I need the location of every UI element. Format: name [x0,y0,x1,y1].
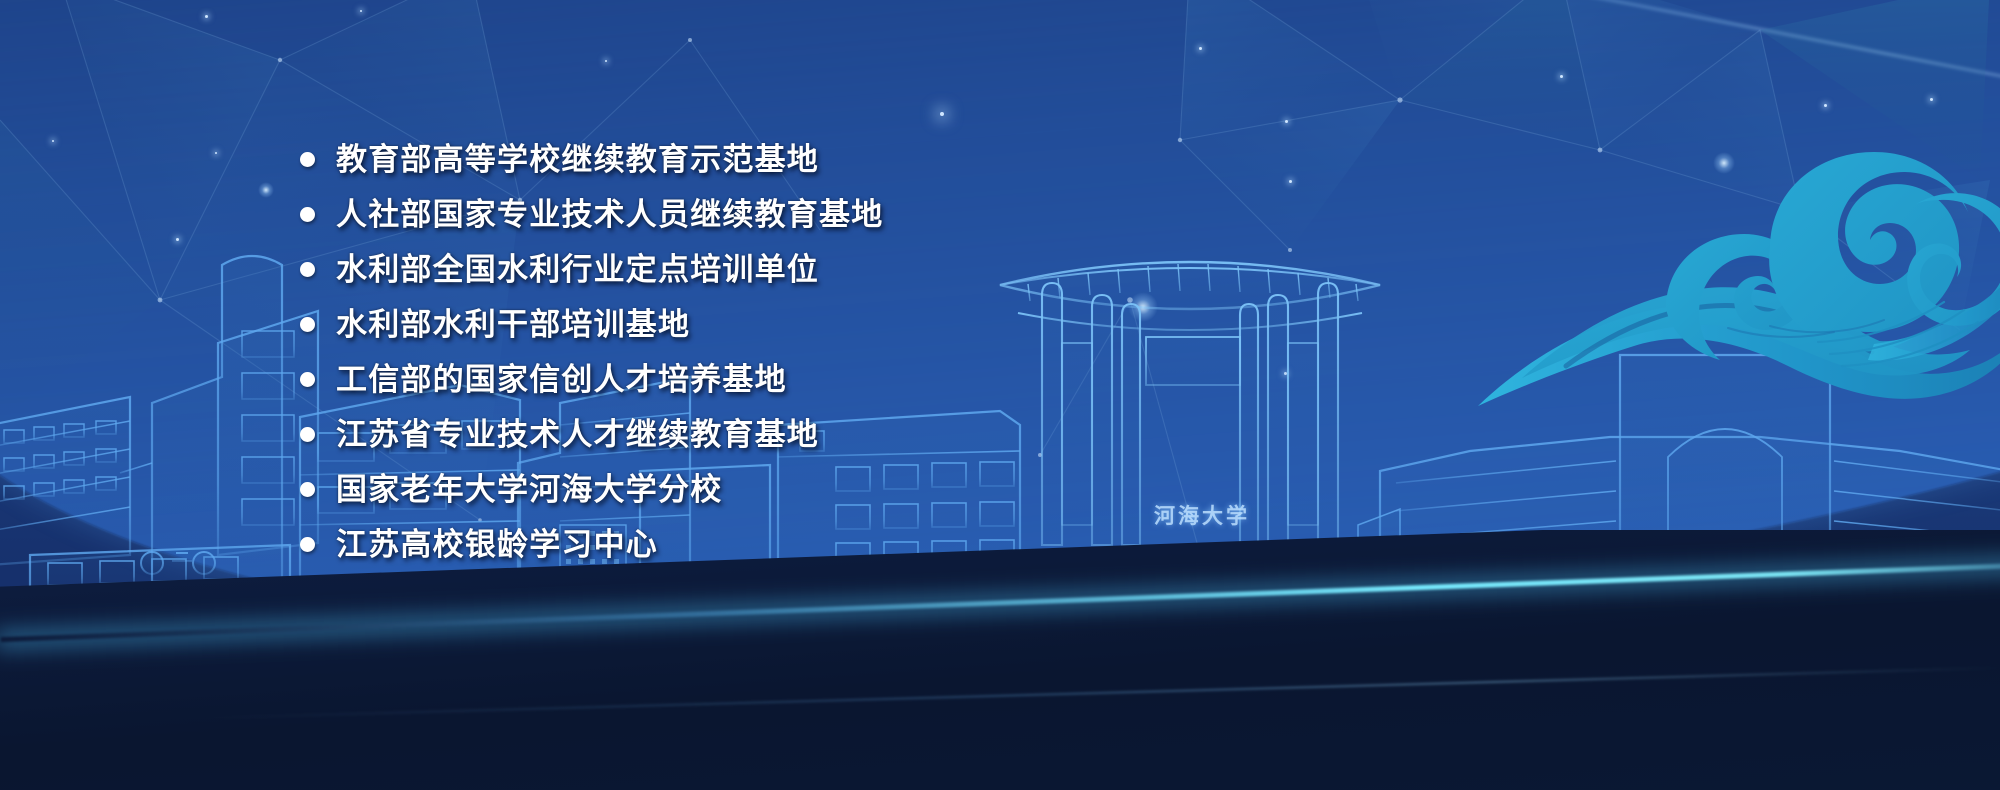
glow-particle [940,112,944,116]
gate-plaque-text: 河海大学 [1147,500,1257,530]
list-item: 教育部高等学校继续教育示范基地 [300,132,883,186]
glow-particle [258,182,274,198]
list-item: 人社部国家专业技术人员继续教育基地 [300,187,883,241]
credentials-list: 教育部高等学校继续教育示范基地 人社部国家专业技术人员继续教育基地 水利部全国水… [300,132,883,572]
glow-particle [1285,120,1288,123]
glow-particle [1930,98,1933,101]
credential-label: 水利部水利干部培训基地 [336,309,690,340]
credential-label: 国家老年大学河海大学分校 [336,474,722,505]
bullet-icon [300,207,315,222]
glow-particle [1560,75,1563,78]
list-item: 工信部的国家信创人才培养基地 [300,352,883,406]
glow-particle [1199,47,1202,50]
bullet-icon [300,482,315,497]
glow-particle [52,140,54,142]
list-item: 江苏高校银龄学习中心 [300,517,883,571]
bullet-icon [300,262,315,277]
list-item: 江苏省专业技术人才继续教育基地 [300,407,883,461]
glow-particle [1289,180,1292,183]
credential-label: 教育部高等学校继续教育示范基地 [336,144,819,175]
glow-particle [1824,104,1827,107]
glow-particle [605,60,607,62]
credential-label: 工信部的国家信创人才培养基地 [336,364,787,395]
credential-label: 江苏高校银龄学习中心 [336,529,658,560]
bullet-icon [300,537,315,552]
hero-banner: 河海大学 [0,0,2000,790]
list-item: 水利部全国水利行业定点培训单位 [300,242,883,296]
glow-particle [360,10,362,12]
wave-cloud-emblem [1470,130,2000,420]
list-item: 国家老年大学河海大学分校 [300,462,883,516]
bullet-icon [300,152,315,167]
glow-particle [215,152,217,154]
list-item: 水利部水利干部培训基地 [300,297,883,351]
glow-particle [205,15,208,18]
credential-label: 江苏省专业技术人才继续教育基地 [336,419,819,450]
bullet-icon [300,317,315,332]
bullet-icon [300,427,315,442]
credential-label: 人社部国家专业技术人员继续教育基地 [336,199,883,230]
bullet-icon [300,372,315,387]
credential-label: 水利部全国水利行业定点培训单位 [336,254,819,285]
